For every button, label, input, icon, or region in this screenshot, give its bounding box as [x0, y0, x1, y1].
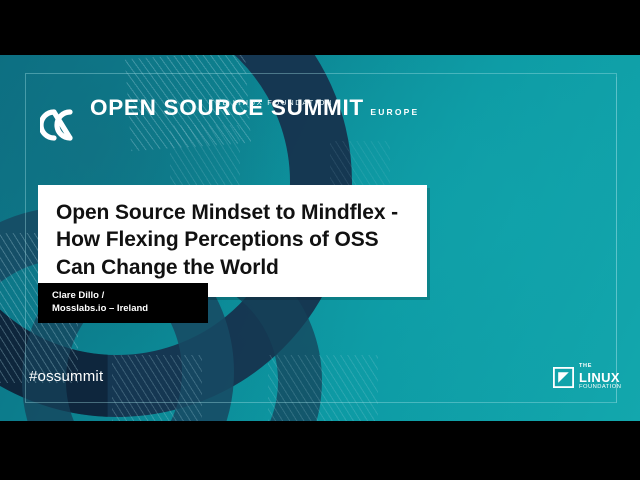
talk-title-line: Open Source Mindset to Mindflex -: [56, 199, 411, 226]
speaker-name: Clare Dillo /: [52, 289, 198, 302]
linux-foundation-logo: THE LINUX FOUNDATION: [553, 364, 621, 391]
talk-title-line: Can Change the World: [56, 254, 411, 281]
letterbox-bar-bottom: [0, 421, 640, 480]
linux-foundation-foundation: FOUNDATION: [579, 385, 621, 391]
letterbox-bar-top: [0, 0, 640, 55]
oss-s-mark-icon: [40, 97, 84, 153]
oss-logo-tagline: THE LINUX FOUNDATION: [209, 98, 333, 107]
video-frame: THE LINUX FOUNDATION OPEN SOURCE SUMMIT …: [0, 0, 640, 480]
linux-foundation-linux: LINUX: [579, 371, 621, 384]
linux-foundation-wordmark: THE LINUX FOUNDATION: [579, 364, 621, 391]
linux-foundation-square-mark-icon: [553, 367, 574, 388]
linux-foundation-the: THE: [579, 364, 621, 370]
talk-title-line: How Flexing Perceptions of OSS: [56, 226, 411, 253]
speaker-affiliation: Mosslabs.io – Ireland: [52, 302, 198, 315]
presentation-slide: THE LINUX FOUNDATION OPEN SOURCE SUMMIT …: [0, 55, 640, 421]
event-hashtag: #ossummit: [29, 368, 103, 385]
talk-title-card: Open Source Mindset to Mindflex - How Fl…: [38, 185, 427, 297]
oss-logo-region: EUROPE: [370, 107, 419, 117]
speaker-credit-band: Clare Dillo / Mosslabs.io – Ireland: [38, 283, 208, 323]
oss-logo-wordmark: THE LINUX FOUNDATION OPEN SOURCE SUMMIT …: [90, 97, 419, 120]
open-source-summit-logo: THE LINUX FOUNDATION OPEN SOURCE SUMMIT …: [40, 97, 419, 153]
